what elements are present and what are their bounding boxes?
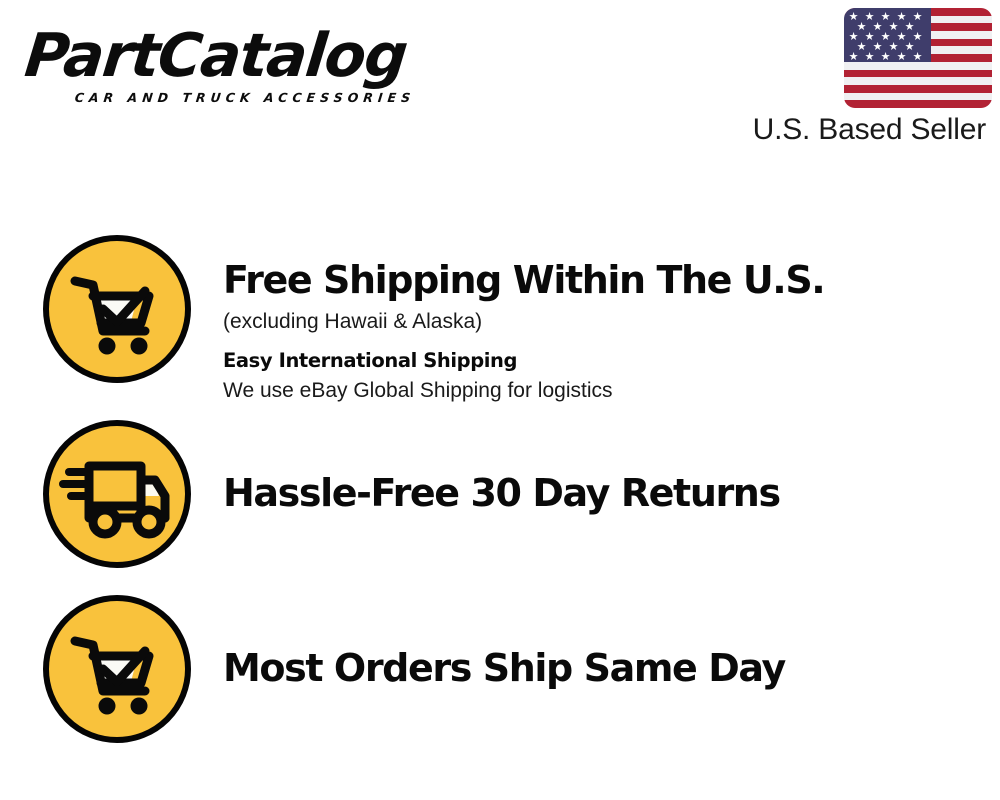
flag-stripe: [844, 100, 992, 108]
shopping-cart-check-icon: [43, 595, 191, 743]
feature-title: Free Shipping Within The U.S.: [223, 257, 1000, 303]
feature-subtitle: (excluding Hawaii & Alaska): [223, 307, 1000, 337]
flag-canton: ★ ★ ★ ★ ★ ★ ★ ★ ★ ★ ★ ★ ★ ★ ★ ★ ★ ★ ★ ★: [844, 8, 931, 62]
feature-row: Free Shipping Within The U.S. (excluding…: [0, 235, 1000, 410]
feature-title: Most Orders Ship Same Day: [223, 645, 1000, 691]
brand-wordmark: PartCatalog: [22, 24, 499, 88]
delivery-truck-icon: [43, 420, 191, 568]
feature-row: Most Orders Ship Same Day: [0, 595, 1000, 755]
us-flag-icon: ★ ★ ★ ★ ★ ★ ★ ★ ★ ★ ★ ★ ★ ★ ★ ★ ★ ★ ★ ★: [844, 8, 992, 108]
feature-text-block: Hassle-Free 30 Day Returns: [223, 420, 1000, 516]
flag-stripe: [844, 85, 992, 93]
brand-tagline: CAR AND TRUCK ACCESSORIES: [74, 90, 494, 105]
brand-logo[interactable]: PartCatalog CAR AND TRUCK ACCESSORIES: [22, 24, 492, 105]
feature-text-block: Free Shipping Within The U.S. (excluding…: [223, 235, 1000, 406]
feature-secondary-subtitle: We use eBay Global Shipping for logistic…: [223, 376, 1000, 406]
us-based-seller-badge: ★ ★ ★ ★ ★ ★ ★ ★ ★ ★ ★ ★ ★ ★ ★ ★ ★ ★ ★ ★: [702, 8, 992, 147]
feature-title: Hassle-Free 30 Day Returns: [223, 470, 1000, 516]
feature-secondary-title: Easy International Shipping: [223, 347, 1000, 375]
shopping-cart-check-icon: [43, 235, 191, 383]
flag-stripe: [844, 70, 992, 78]
seller-badge-label: U.S. Based Seller: [702, 113, 986, 147]
feature-text-block: Most Orders Ship Same Day: [223, 595, 1000, 691]
feature-row: Hassle-Free 30 Day Returns: [0, 420, 1000, 580]
page-header: PartCatalog CAR AND TRUCK ACCESSORIES ★ …: [0, 0, 1000, 170]
flag-stripe: [844, 77, 992, 85]
flag-stripe: [844, 93, 992, 101]
